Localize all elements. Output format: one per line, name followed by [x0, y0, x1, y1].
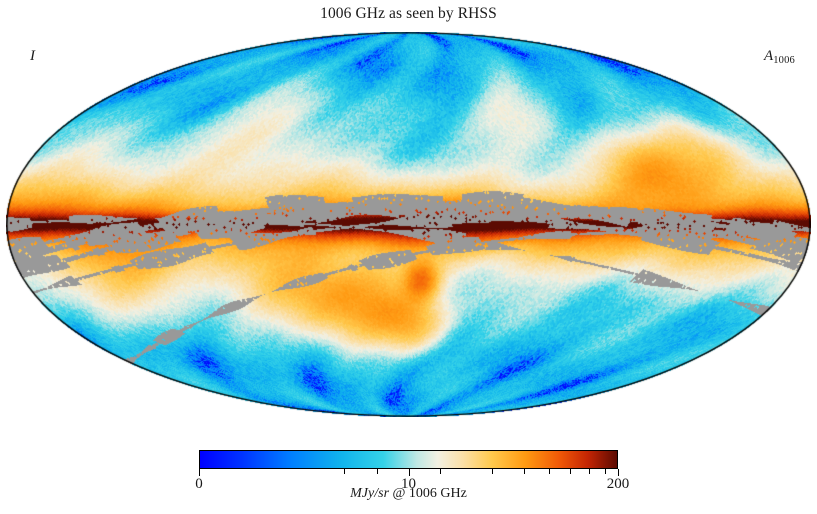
- figure-canvas: 1006 GHz as seen by RHSS I A1006 0 10 20…: [0, 0, 817, 514]
- mollweide-projection-canvas: [6, 32, 811, 417]
- sky-map: [6, 32, 811, 417]
- colorbar-ticks: [199, 469, 618, 476]
- colorbar-unit-label: MJy/sr @ 1006 GHz: [199, 486, 618, 502]
- page-title: 1006 GHz as seen by RHSS: [0, 5, 817, 23]
- colorbar-unit-italic: MJy/sr: [350, 486, 389, 501]
- colorbar-unit-rest: @ 1006 GHz: [393, 486, 467, 501]
- colorbar-gradient: [199, 450, 618, 469]
